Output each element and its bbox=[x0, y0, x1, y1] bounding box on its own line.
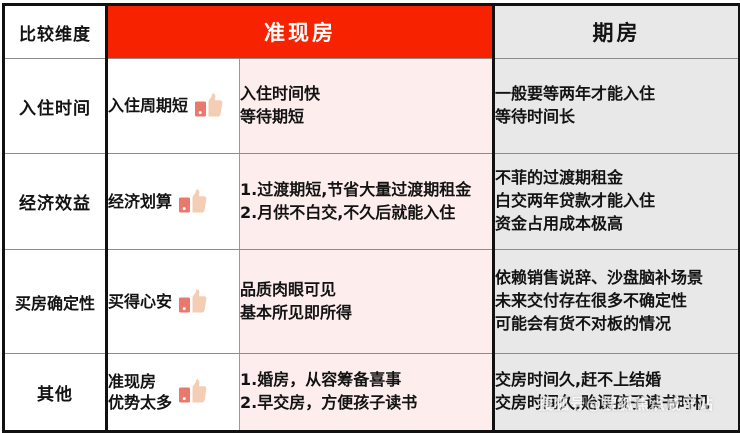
row-summary-label: 入住周期短 bbox=[108, 95, 188, 116]
thumbs-up-icon bbox=[194, 93, 224, 119]
table-row: 买房确定性 买得心安 品质 bbox=[4, 250, 740, 354]
thumbs-up-icon bbox=[178, 379, 208, 405]
row-dimension-label: 其他 bbox=[37, 385, 73, 405]
row-summary-cell: 入住周期短 bbox=[107, 59, 240, 154]
row-summary-cell: 买得心安 bbox=[107, 250, 240, 354]
row-dimension-cell: 买房确定性 bbox=[4, 250, 107, 354]
header-dimension-label: 比较维度 bbox=[19, 25, 91, 45]
row-futures-text: 一般要等两年才能入住 等待时间长 bbox=[495, 83, 738, 128]
row-futures-cell: 依赖销售说辞、沙盘脑补场景 未来交付存在很多不确定性 可能会有货不对板的情况 bbox=[494, 250, 740, 354]
table-header-row: 比较维度 准现房 期房 bbox=[4, 5, 740, 59]
row-dimension-label: 买房确定性 bbox=[15, 294, 95, 313]
row-dimension-cell: 其他 bbox=[4, 354, 107, 432]
row-detail-text: 1.婚房，从容筹备喜事 2.早交房，方便孩子读书 bbox=[240, 369, 492, 414]
row-detail-cell: 入住时间快 等待期短 bbox=[240, 59, 494, 154]
row-futures-text: 不菲的过渡期租金 白交两年贷款才能入住 资金占用成本极高 bbox=[495, 167, 738, 235]
comparison-table: 比较维度 准现房 期房 入住时间 入住周期短 bbox=[2, 3, 740, 433]
row-detail-text: 1.过渡期短,节省大量过渡期租金 2.月供不白交,不久后就能入住 bbox=[240, 179, 492, 224]
row-summary-cell: 准现房 优势太多 bbox=[107, 354, 240, 432]
row-dimension-label: 入住时间 bbox=[19, 99, 91, 119]
row-summary-label: 准现房 优势太多 bbox=[108, 371, 172, 413]
row-detail-text: 入住时间快 等待期短 bbox=[240, 83, 492, 128]
comparison-table-container: 比较维度 准现房 期房 入住时间 入住周期短 bbox=[0, 3, 740, 420]
header-group-qifang: 期房 bbox=[494, 5, 740, 59]
row-detail-cell: 1.过渡期短,节省大量过渡期租金 2.月供不白交,不久后就能入住 bbox=[240, 154, 494, 250]
header-dimension-cell: 比较维度 bbox=[4, 5, 107, 59]
thumbs-up-icon bbox=[178, 189, 208, 215]
row-summary-label: 经济划算 bbox=[108, 191, 172, 212]
row-detail-cell: 品质肉眼可见 基本所见即所得 bbox=[240, 250, 494, 354]
row-futures-cell: 交房时间久,赶不上结婚 交房时间久,贻误孩子读书时机 bbox=[494, 354, 740, 432]
header-group-zhunxianfang-label: 准现房 bbox=[264, 21, 336, 45]
row-futures-cell: 一般要等两年才能入住 等待时间长 bbox=[494, 59, 740, 154]
row-futures-text: 依赖销售说辞、沙盘脑补场景 未来交付存在很多不确定性 可能会有货不对板的情况 bbox=[495, 267, 738, 335]
row-dimension-cell: 经济效益 bbox=[4, 154, 107, 250]
row-dimension-cell: 入住时间 bbox=[4, 59, 107, 154]
row-dimension-label: 经济效益 bbox=[19, 194, 91, 214]
table-row: 经济效益 经济划算 1.过 bbox=[4, 154, 740, 250]
row-detail-text: 品质肉眼可见 基本所见即所得 bbox=[240, 279, 492, 324]
row-futures-text: 交房时间久,赶不上结婚 交房时间久,贻误孩子读书时机 bbox=[495, 369, 738, 414]
row-summary-label: 买得心安 bbox=[108, 291, 172, 312]
header-group-zhunxianfang: 准现房 bbox=[107, 5, 494, 59]
table-row: 入住时间 入住周期短 入住 bbox=[4, 59, 740, 154]
table-row: 其他 准现房 优势太多 1 bbox=[4, 354, 740, 432]
row-detail-cell: 1.婚房，从容筹备喜事 2.早交房，方便孩子读书 bbox=[240, 354, 494, 432]
row-summary-cell: 经济划算 bbox=[107, 154, 240, 250]
header-group-qifang-label: 期房 bbox=[593, 21, 641, 45]
row-futures-cell: 不菲的过渡期租金 白交两年贷款才能入住 资金占用成本极高 bbox=[494, 154, 740, 250]
thumbs-up-icon bbox=[178, 289, 208, 315]
